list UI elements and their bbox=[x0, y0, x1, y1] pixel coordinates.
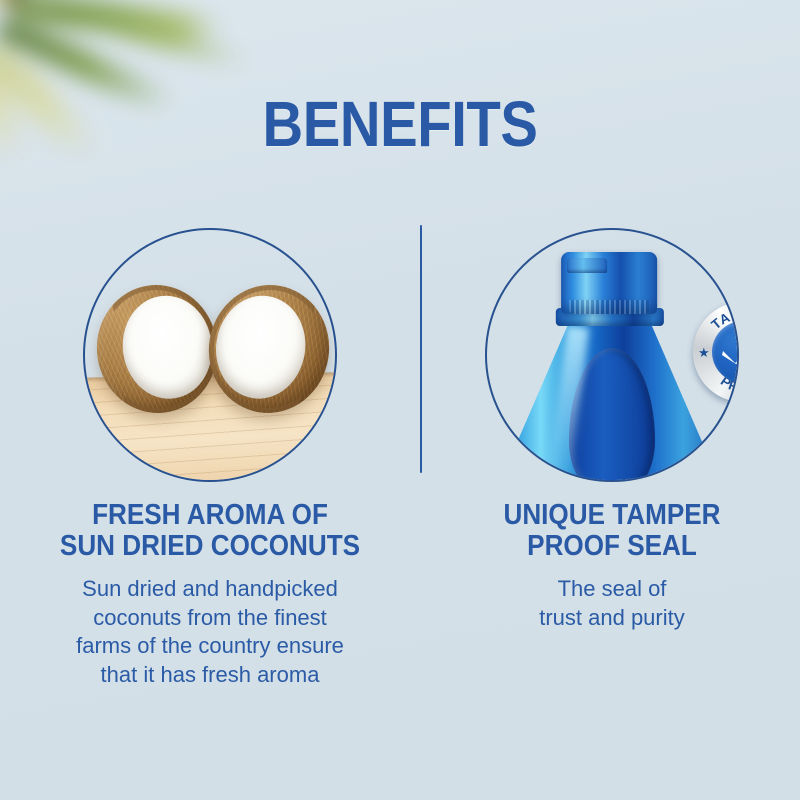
benefit-heading: UNIQUE TAMPER PROOF SEAL bbox=[448, 500, 776, 562]
tamper-proof-badge: TAMPER PROOF ★ ★ bbox=[693, 302, 739, 402]
frond-leaf bbox=[44, 0, 251, 73]
page-title: BENEFITS bbox=[48, 92, 752, 156]
coconut-image-circle bbox=[83, 228, 337, 482]
frond-leaf bbox=[10, 0, 222, 48]
bottle-image-circle: TAMPER PROOF ★ ★ bbox=[485, 228, 739, 482]
check-mark-icon bbox=[722, 338, 739, 364]
column-divider bbox=[420, 225, 422, 473]
benefit-caption: FRESH AROMA OF SUN DRIED COCONUTS Sun dr… bbox=[22, 500, 398, 689]
benefit-card-tamper-proof: TAMPER PROOF ★ ★ UNIQUE TAMPER PROOF S bbox=[424, 228, 800, 632]
benefits-poster: BENEFITS FRESH AROMA OF SUN DRIED COCONU bbox=[0, 0, 800, 800]
bottle-cap bbox=[561, 252, 657, 314]
benefit-caption: UNIQUE TAMPER PROOF SEAL The seal of tru… bbox=[424, 500, 800, 632]
coconut-halves-icon bbox=[85, 230, 335, 480]
frond-leaf bbox=[0, 22, 29, 169]
frond-stem bbox=[0, 0, 28, 9]
badge-star-left: ★ bbox=[698, 347, 709, 358]
benefit-heading: FRESH AROMA OF SUN DRIED COCONUTS bbox=[46, 500, 374, 562]
benefit-body: The seal of trust and purity bbox=[430, 575, 794, 632]
benefit-body: Sun dried and handpicked coconuts from t… bbox=[28, 575, 392, 689]
benefit-card-fresh-aroma: FRESH AROMA OF SUN DRIED COCONUTS Sun dr… bbox=[22, 228, 398, 689]
bottle-icon: TAMPER PROOF ★ ★ bbox=[487, 230, 737, 480]
frond-leaf bbox=[0, 0, 89, 12]
